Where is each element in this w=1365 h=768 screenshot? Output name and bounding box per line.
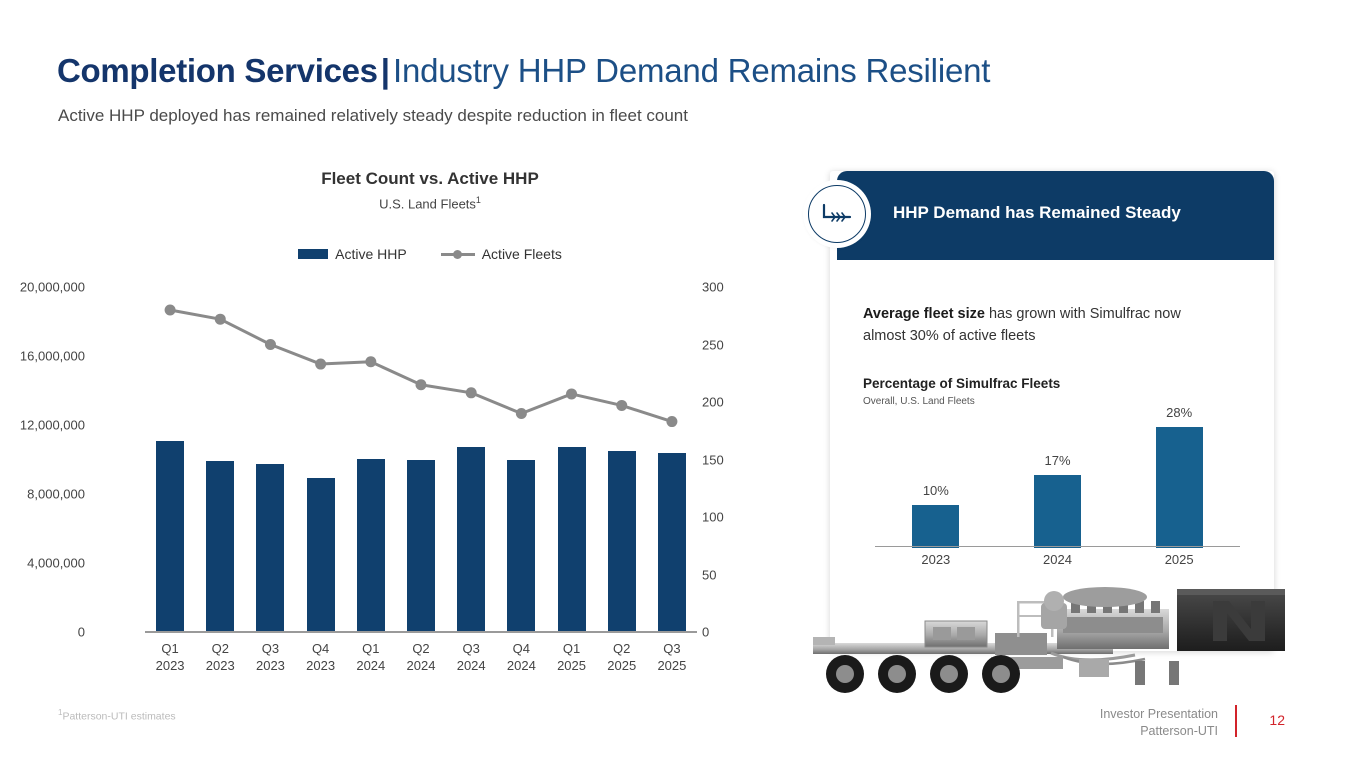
y-axis-left-tick: 8,000,000 [27,487,85,502]
x-axis-label-quarter: Q1 [557,640,586,657]
active-fleets-point [516,408,527,419]
active-fleets-polyline [170,310,672,422]
x-axis-baseline [145,631,697,633]
y-axis-right-tick: 250 [702,337,724,352]
mini-bar [1034,475,1081,548]
x-axis-label: Q12024 [356,640,385,674]
frac-pump-trailer-photo [805,575,1290,700]
chart-subtitle-text: U.S. Land Fleets [379,196,476,211]
bar-active-hhp [558,447,586,632]
legend-item-active-fleets: Active Fleets [441,246,562,262]
footer-divider [1235,705,1238,737]
chart-title: Fleet Count vs. Active HHP [150,169,710,189]
x-axis-label-year: 2023 [256,657,285,674]
x-axis-label-year: 2023 [206,657,235,674]
bar-active-hhp [357,459,385,632]
mini-chart-baseline [875,546,1240,547]
x-axis-label-quarter: Q3 [457,640,486,657]
mini-x-axis-label: 2025 [1165,552,1194,567]
x-axis-label-quarter: Q4 [306,640,335,657]
page-number: 12 [1269,712,1285,728]
footer-line2: Patterson-UTI [1100,723,1218,740]
mini-bar-value-label: 10% [923,483,949,498]
footnote-text: Patterson-UTI estimates [62,711,175,723]
x-axis-label: Q12023 [156,640,185,674]
frac-fleet-icon [808,185,866,243]
panel-badge [806,183,868,245]
chart-subtitle: U.S. Land Fleets1 [150,195,710,211]
chart-plot-area [145,287,697,632]
mini-chart-plot-area: 10%17%28% [875,408,1240,548]
x-axis-label-year: 2024 [407,657,436,674]
x-axis-label-quarter: Q3 [657,640,686,657]
y-axis-right-tick: 100 [702,510,724,525]
x-axis-label-year: 2025 [657,657,686,674]
panel-heading: HHP Demand has Remained Steady [893,203,1181,223]
x-axis-label-year: 2024 [356,657,385,674]
y-axis-left: 04,000,0008,000,00012,000,00016,000,0002… [0,287,85,632]
y-axis-left-tick: 20,000,000 [20,280,85,295]
page-title-light: Industry HHP Demand Remains Resilient [393,52,990,89]
x-axis-label-quarter: Q1 [356,640,385,657]
mini-x-axis-label: 2023 [921,552,950,567]
page-title: Completion Services|Industry HHP Demand … [57,52,990,90]
legend-swatch-bar-icon [298,249,328,259]
x-axis-label-year: 2024 [507,657,536,674]
mini-bar [912,505,959,548]
legend-swatch-line-icon [441,249,475,259]
active-fleets-point [315,359,326,370]
bar-active-hhp [608,451,636,632]
bar-active-hhp [206,461,234,632]
x-axis-label: Q22025 [607,640,636,674]
y-axis-right-tick: 0 [702,625,709,640]
y-axis-right-tick: 150 [702,452,724,467]
x-axis-label: Q42023 [306,640,335,674]
footer-line1: Investor Presentation [1100,706,1218,723]
x-axis-label-quarter: Q2 [206,640,235,657]
bar-active-hhp [307,478,335,632]
active-fleets-point [616,400,627,411]
x-axis-label-quarter: Q4 [507,640,536,657]
y-axis-left-tick: 0 [78,625,85,640]
y-axis-left-tick: 16,000,000 [20,349,85,364]
x-axis-label-year: 2025 [607,657,636,674]
bar-active-hhp [507,460,535,632]
legend-item-active-hhp: Active HHP [298,246,407,262]
y-axis-right-tick: 300 [702,280,724,295]
bar-active-hhp [256,464,284,632]
y-axis-right-tick: 50 [702,567,716,582]
x-axis-label-year: 2023 [156,657,185,674]
x-axis-label-quarter: Q3 [256,640,285,657]
y-axis-left-tick: 12,000,000 [20,418,85,433]
active-fleets-point [215,314,226,325]
mini-x-axis-label: 2024 [1043,552,1072,567]
active-fleets-point [466,387,477,398]
x-axis-label-quarter: Q1 [156,640,185,657]
active-fleets-point [165,305,176,316]
slide: Completion Services|Industry HHP Demand … [0,0,1365,768]
frac-fleet-glyph-icon [819,202,855,226]
panel-body-bold: Average fleet size [863,306,985,322]
y-axis-left-tick: 4,000,000 [27,556,85,571]
x-axis-label: Q32024 [457,640,486,674]
mini-bar [1156,427,1203,548]
x-axis-label: Q32025 [657,640,686,674]
panel-body-text: Average fleet size has grown with Simulf… [863,303,1223,347]
active-fleets-point [416,379,427,390]
x-axis-label-year: 2024 [457,657,486,674]
page-title-strong: Completion Services [57,52,378,89]
chart-subtitle-footnote-marker: 1 [476,195,481,205]
bar-active-hhp [156,441,184,632]
active-fleets-point [566,388,577,399]
active-fleets-point [365,356,376,367]
frac-pump-trailer-graphic-icon [805,575,1290,700]
legend-label-active-fleets: Active Fleets [482,246,562,262]
bar-active-hhp [407,460,435,633]
x-axis-labels: Q12023Q22023Q32023Q42023Q12024Q22024Q320… [145,640,697,686]
page-subtitle: Active HHP deployed has remained relativ… [58,106,688,126]
active-fleets-point [265,339,276,350]
y-axis-right-tick: 200 [702,395,724,410]
mini-chart-title: Percentage of Simulfrac Fleets [863,376,1060,391]
x-axis-label: Q32023 [256,640,285,674]
footer-text: Investor Presentation Patterson-UTI [1100,706,1218,740]
legend-label-active-hhp: Active HHP [335,246,407,262]
x-axis-label: Q42024 [507,640,536,674]
mini-bar-value-label: 28% [1166,405,1192,420]
bar-active-hhp [658,453,686,632]
x-axis-label: Q22024 [407,640,436,674]
bar-active-hhp [457,447,485,632]
x-axis-label-quarter: Q2 [407,640,436,657]
x-axis-label-year: 2025 [557,657,586,674]
chart-legend: Active HHP Active Fleets [150,246,710,262]
mini-bar-value-label: 17% [1044,453,1070,468]
x-axis-label-year: 2023 [306,657,335,674]
y-axis-right: 050100150200250300 [702,287,762,632]
page-title-divider: | [378,52,393,89]
x-axis-label: Q22023 [206,640,235,674]
x-axis-label: Q12025 [557,640,586,674]
mini-chart-subtitle: Overall, U.S. Land Fleets [863,396,975,407]
active-fleets-point [666,416,677,427]
x-axis-label-quarter: Q2 [607,640,636,657]
footnote: 1Patterson-UTI estimates [58,708,176,723]
